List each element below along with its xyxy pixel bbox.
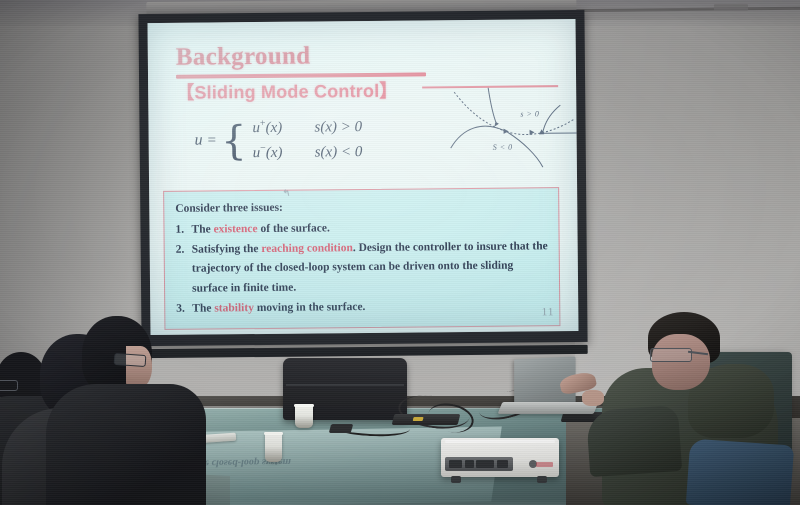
diagram-label-s-positive: s > 0 xyxy=(520,109,539,118)
issues-textbox: ↰ Consider three issues: 1. The existenc… xyxy=(163,187,560,329)
projector-port xyxy=(449,460,462,468)
issue-text: Satisfying the reaching condition. Desig… xyxy=(192,237,550,300)
power-adapter xyxy=(329,424,354,433)
face xyxy=(126,346,152,388)
projector-vga-port xyxy=(476,460,494,468)
slide-page-number: 11 xyxy=(542,306,555,318)
screen-surface: Background 【Sliding Mode Control】 u = { xyxy=(148,19,579,335)
projector-port-panel xyxy=(445,457,513,471)
issues-intro: Consider three issues: xyxy=(175,196,548,219)
control-law-equation: u = { u+(x) s(x) > 0 u−(x) s(x) < 0 xyxy=(194,117,362,163)
issue-number: 1. xyxy=(175,220,186,240)
diagram-label-s-negative: S < 0 xyxy=(493,143,513,152)
eyeglasses xyxy=(650,348,692,362)
presentation-room-photo: Background 【Sliding Mode Control】 u = { xyxy=(0,0,800,505)
slide-subtitle: 【Sliding Mode Control】 xyxy=(176,77,398,105)
projected-slide: Background 【Sliding Mode Control】 u = { xyxy=(148,19,579,335)
eq-argument: (x) xyxy=(266,145,283,161)
pointer-mark-icon: ↰ xyxy=(281,185,293,196)
issue-item: 2. Satisfying the reaching condition. De… xyxy=(176,237,550,300)
sliding-mode-phase-portrait-diagram: s > 0 S < 0 xyxy=(448,85,578,168)
equation-row-value: u−(x) xyxy=(253,142,315,162)
issue-part: The xyxy=(192,302,214,314)
ceiling-fixture xyxy=(714,4,748,11)
issue-text: The stability moving in the surface. xyxy=(192,296,549,319)
face xyxy=(652,334,710,390)
screen-frame: Background 【Sliding Mode Control】 u = { xyxy=(138,10,587,346)
equation-rows: u+(x) s(x) > 0 u−(x) s(x) < 0 xyxy=(252,117,362,162)
equation-row: u−(x) s(x) < 0 xyxy=(253,142,363,162)
paper-cup xyxy=(265,432,282,462)
projector-port xyxy=(465,460,474,468)
projector-foot xyxy=(451,476,461,483)
phase-portrait-svg xyxy=(448,85,578,168)
projector-port xyxy=(497,460,508,468)
slide-title: Background xyxy=(176,41,552,70)
eq-argument: (x) xyxy=(266,120,283,136)
projector-brand-logo xyxy=(536,462,553,467)
paper-cup xyxy=(295,404,313,428)
arm xyxy=(586,405,682,477)
projector xyxy=(441,438,559,477)
hand xyxy=(582,390,604,406)
issue-item: 3. The stability moving in the surface. xyxy=(176,296,549,319)
eyeglasses xyxy=(0,380,18,391)
issue-number: 2. xyxy=(176,240,188,299)
speaker-right xyxy=(610,312,796,505)
projection-screen-assembly: Background 【Sliding Mode Control】 u = { xyxy=(138,2,589,352)
projector-foot xyxy=(537,476,547,483)
issue-part: Satisfying the xyxy=(192,243,262,256)
torso xyxy=(46,384,206,505)
issue-part: moving in the surface. xyxy=(254,301,366,314)
eyeglasses xyxy=(114,353,147,367)
power-strip-led xyxy=(413,417,424,421)
issue-highlight: stability xyxy=(214,302,254,314)
equation-row-condition: s(x) > 0 xyxy=(314,119,362,136)
equation-lhs: u xyxy=(195,132,203,150)
backpack xyxy=(686,438,794,505)
issue-highlight: existence xyxy=(213,223,257,235)
equation-equals: = xyxy=(208,132,217,149)
attendee-near-left xyxy=(66,316,190,505)
issue-part: The xyxy=(191,223,213,235)
equation-row-value: u+(x) xyxy=(252,117,314,137)
projector-vent xyxy=(445,440,555,443)
issue-highlight: reaching condition xyxy=(261,242,353,255)
equation-row-condition: s(x) < 0 xyxy=(315,144,363,161)
equation-row: u+(x) s(x) > 0 xyxy=(252,117,362,137)
power-strip xyxy=(392,414,461,425)
equation-brace: { xyxy=(221,125,247,157)
issue-part: of the surface. xyxy=(258,222,330,235)
